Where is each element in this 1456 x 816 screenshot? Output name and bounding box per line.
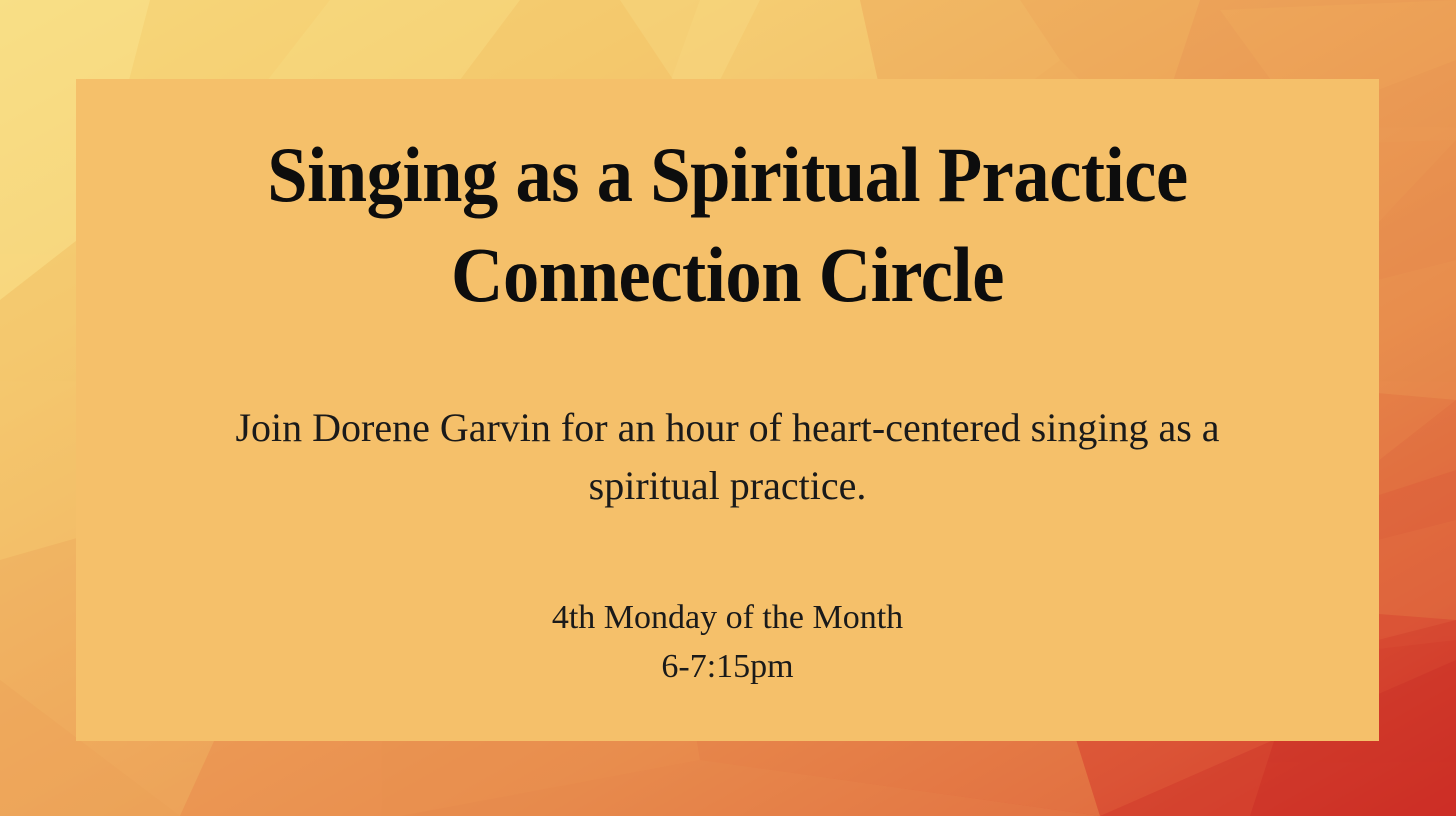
event-description: Join Dorene Garvin for an hour of heart-…	[165, 325, 1290, 515]
event-schedule: 4th Monday of the Month 6-7:15pm	[132, 515, 1323, 692]
page-title: Singing as a Spiritual Practice Connecti…	[174, 125, 1282, 325]
schedule-time: 6-7:15pm	[132, 642, 1323, 691]
title-line-2: Connection Circle	[451, 231, 1004, 318]
content-card: Singing as a Spiritual Practice Connecti…	[76, 79, 1379, 741]
schedule-day: 4th Monday of the Month	[132, 593, 1323, 642]
poster: Singing as a Spiritual Practice Connecti…	[0, 0, 1456, 816]
title-line-1: Singing as a Spiritual Practice	[267, 131, 1188, 218]
